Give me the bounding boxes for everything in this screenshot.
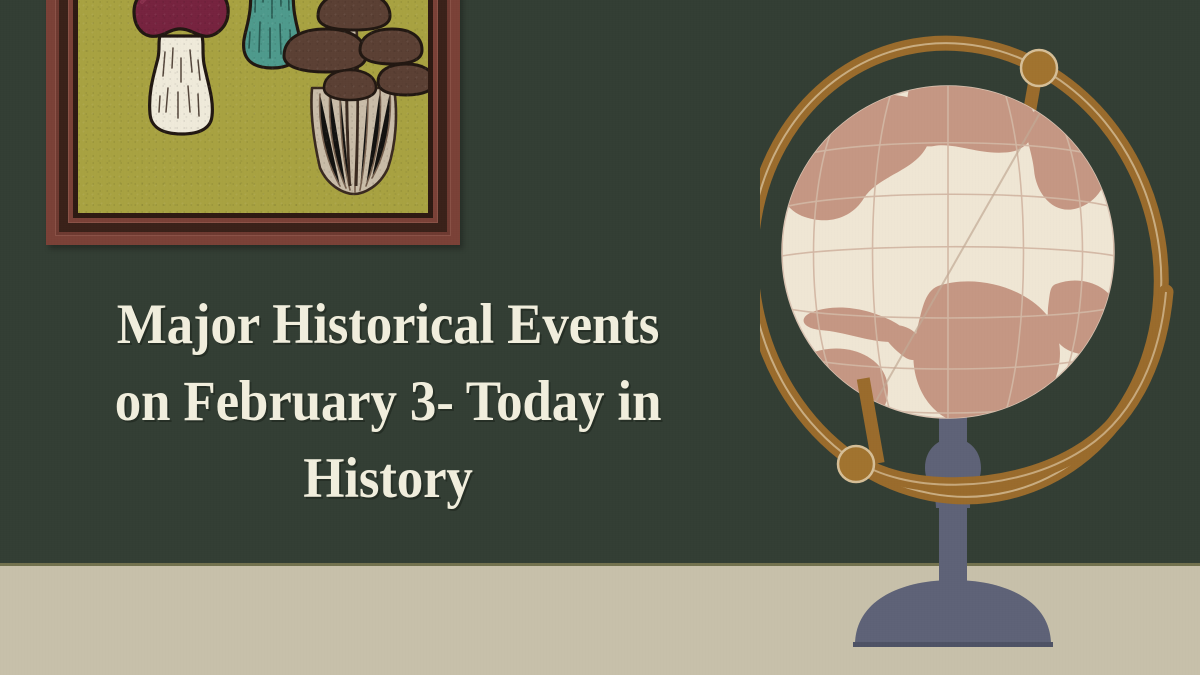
artwork-canvas bbox=[78, 0, 428, 213]
page-title: Major Historical Events on February 3- T… bbox=[35, 286, 742, 517]
frame-border-dark bbox=[59, 0, 447, 232]
frame-mat bbox=[73, 0, 433, 218]
frame-border-outer bbox=[55, 0, 451, 236]
frame-border-inner bbox=[68, 0, 438, 223]
page-title-line-2: on February 3- Today in bbox=[35, 363, 742, 440]
axis-knob-lower-left bbox=[838, 446, 874, 482]
page-title-line-3: History bbox=[35, 440, 742, 517]
framed-artwork bbox=[46, 0, 460, 245]
hero-banner: Major Historical Events on February 3- T… bbox=[0, 0, 1200, 675]
maroon-cap-mushroom bbox=[134, 0, 228, 134]
stand-base bbox=[855, 580, 1051, 645]
cap-top bbox=[318, 0, 390, 30]
globe-illustration bbox=[760, 30, 1200, 675]
cap-right-upper bbox=[360, 29, 422, 64]
page-title-line-1: Major Historical Events bbox=[35, 286, 742, 363]
brown-cap-mushroom-cluster bbox=[284, 0, 428, 194]
cap-left bbox=[284, 29, 366, 72]
globe-sphere bbox=[772, 76, 1124, 430]
cap-center-lower bbox=[324, 70, 376, 100]
stand-base-shadow bbox=[853, 642, 1053, 647]
axis-knob-top bbox=[1021, 50, 1057, 86]
mushroom-illustration bbox=[78, 0, 428, 213]
cap-right-lower bbox=[378, 64, 428, 95]
